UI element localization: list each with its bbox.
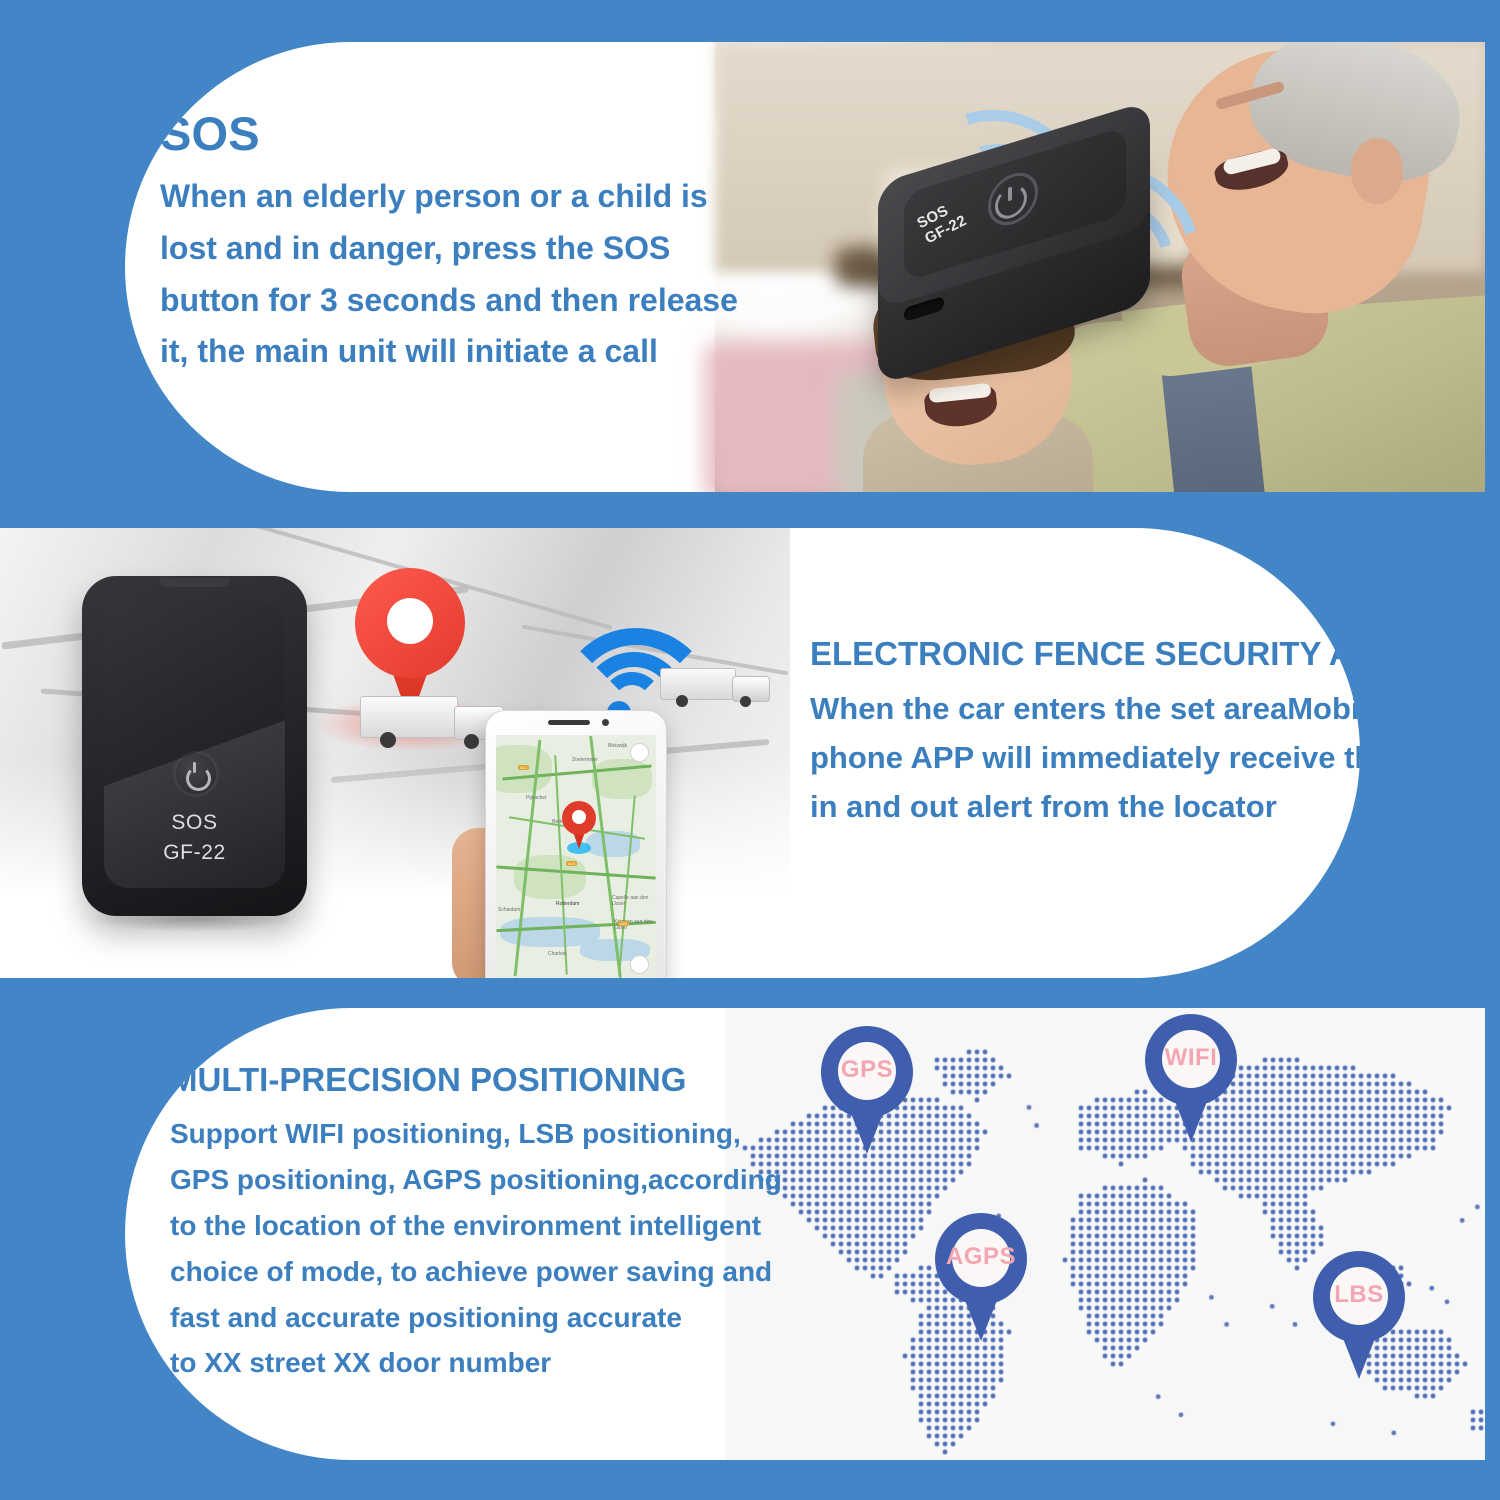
fence-heading: ELECTRONIC FENCE SECURITY ALERT bbox=[810, 636, 1350, 673]
panel-sos: SOS GF-22 SOS When an elderly person or … bbox=[125, 42, 1485, 492]
multi-body-line: Support WIFI positioning, LSB positionin… bbox=[170, 1111, 750, 1157]
infographic-page: SOS GF-22 SOS When an elderly person or … bbox=[0, 0, 1500, 1500]
phone-map-pin-icon bbox=[562, 801, 596, 849]
map-pin-label: WIFI bbox=[1145, 1044, 1237, 1072]
multi-body-line: to XX street XX door number bbox=[170, 1340, 750, 1386]
power-button-icon[interactable] bbox=[176, 754, 216, 794]
sos-heading: SOS bbox=[160, 110, 760, 157]
sos-body-line: button for 3 seconds and then release bbox=[160, 275, 760, 327]
map-place-label: Bleiswijk bbox=[608, 743, 627, 749]
device-top-notch bbox=[160, 578, 230, 587]
map-place-label: Zoetermeer bbox=[572, 757, 598, 763]
map-place-label: Schiedam bbox=[498, 907, 520, 913]
device-brand-label: SOS GF-22 bbox=[104, 808, 285, 868]
map-pin-label: LBS bbox=[1313, 1281, 1405, 1309]
fence-body-line: in and out alert from the locator bbox=[810, 783, 1350, 832]
phone-camera bbox=[602, 719, 609, 726]
map-place-label: Rotterdam bbox=[556, 901, 579, 907]
map-pin-agps: AGPS bbox=[935, 1213, 1027, 1341]
truck-wheel bbox=[740, 696, 751, 707]
map-pin-wifi: WIFI bbox=[1145, 1014, 1237, 1142]
fence-body: When the car enters the set areaMobile p… bbox=[810, 685, 1350, 832]
truck-trailer bbox=[660, 668, 736, 700]
sos-body-line: When an elderly person or a child is bbox=[160, 171, 760, 223]
gps-tracker-device-front: SOS GF-22 bbox=[82, 576, 307, 916]
map-route-shield: A12 bbox=[518, 765, 529, 770]
truck-icon bbox=[660, 664, 780, 720]
sos-body-line: lost and in danger, press the SOS bbox=[160, 223, 760, 275]
multi-body-line: GPS positioning, AGPS positioning,accord… bbox=[170, 1157, 750, 1203]
panel-electronic-fence: SOS GF-22 bbox=[0, 528, 1360, 978]
phone-map-screen[interactable]: Zoetermeer Berkel en Rodenrijs Pijnacker… bbox=[496, 735, 656, 978]
device-brand-sos: SOS bbox=[104, 808, 285, 838]
map-pin-label: AGPS bbox=[935, 1243, 1027, 1271]
sos-body-line: it, the main unit will initiate a call bbox=[160, 326, 760, 378]
map-pin-gps: GPS bbox=[821, 1026, 913, 1154]
multi-body-line: choice of mode, to achieve power saving … bbox=[170, 1249, 750, 1295]
truck-wheel bbox=[380, 732, 396, 748]
fence-body-line: phone APP will immediately receive the bbox=[810, 734, 1350, 783]
map-place-label: Capelle aan den IJssel bbox=[612, 895, 656, 907]
map-pin-lbs: LBS bbox=[1313, 1251, 1405, 1379]
multi-heading: MULTI-PRECISION POSITIONING bbox=[170, 1062, 750, 1099]
device-brand-model: GF-22 bbox=[104, 838, 285, 868]
multi-text-block: MULTI-PRECISION POSITIONING Support WIFI… bbox=[170, 1062, 750, 1386]
phone-speaker bbox=[548, 720, 590, 725]
map-place-label: Charlois bbox=[548, 951, 566, 957]
map-pin-hole bbox=[387, 598, 433, 644]
elderly-man-ear bbox=[1351, 138, 1403, 204]
truck-wheel bbox=[676, 695, 688, 707]
map-place-label: Pijnacker bbox=[526, 795, 547, 801]
multi-body-line: to the location of the environment intel… bbox=[170, 1203, 750, 1249]
gps-tracker-device-isometric: SOS GF-22 bbox=[860, 102, 1190, 382]
sos-text-block: SOS When an elderly person or a child is… bbox=[160, 110, 760, 378]
fence-text-block: ELECTRONIC FENCE SECURITY ALERT When the… bbox=[810, 636, 1350, 832]
fence-body-line: When the car enters the set areaMobile bbox=[810, 685, 1350, 734]
map-layers-button[interactable] bbox=[630, 743, 649, 762]
multi-body: Support WIFI positioning, LSB positionin… bbox=[170, 1111, 750, 1386]
truck-cab bbox=[732, 676, 770, 702]
phone-map-pin-hole bbox=[572, 810, 586, 824]
sos-body: When an elderly person or a child is los… bbox=[160, 171, 760, 378]
map-pin-label: GPS bbox=[821, 1056, 913, 1084]
device-face-panel: SOS GF-22 bbox=[104, 602, 285, 888]
multi-body-line: fast and accurate positioning accurate bbox=[170, 1295, 750, 1341]
map-locate-button[interactable] bbox=[630, 955, 649, 974]
smartphone-mockup: Zoetermeer Berkel en Rodenrijs Pijnacker… bbox=[485, 710, 667, 978]
world-dot-map: GPS WIFI AGPS LBS bbox=[725, 1008, 1485, 1460]
truck-trailer bbox=[360, 696, 458, 738]
map-route-shield: A20 bbox=[618, 921, 629, 926]
panel-multi-precision-positioning: GPS WIFI AGPS LBS MULTI-PR bbox=[125, 1008, 1485, 1460]
map-route-shield: A16 bbox=[566, 861, 577, 866]
truck-wheel bbox=[464, 734, 479, 749]
